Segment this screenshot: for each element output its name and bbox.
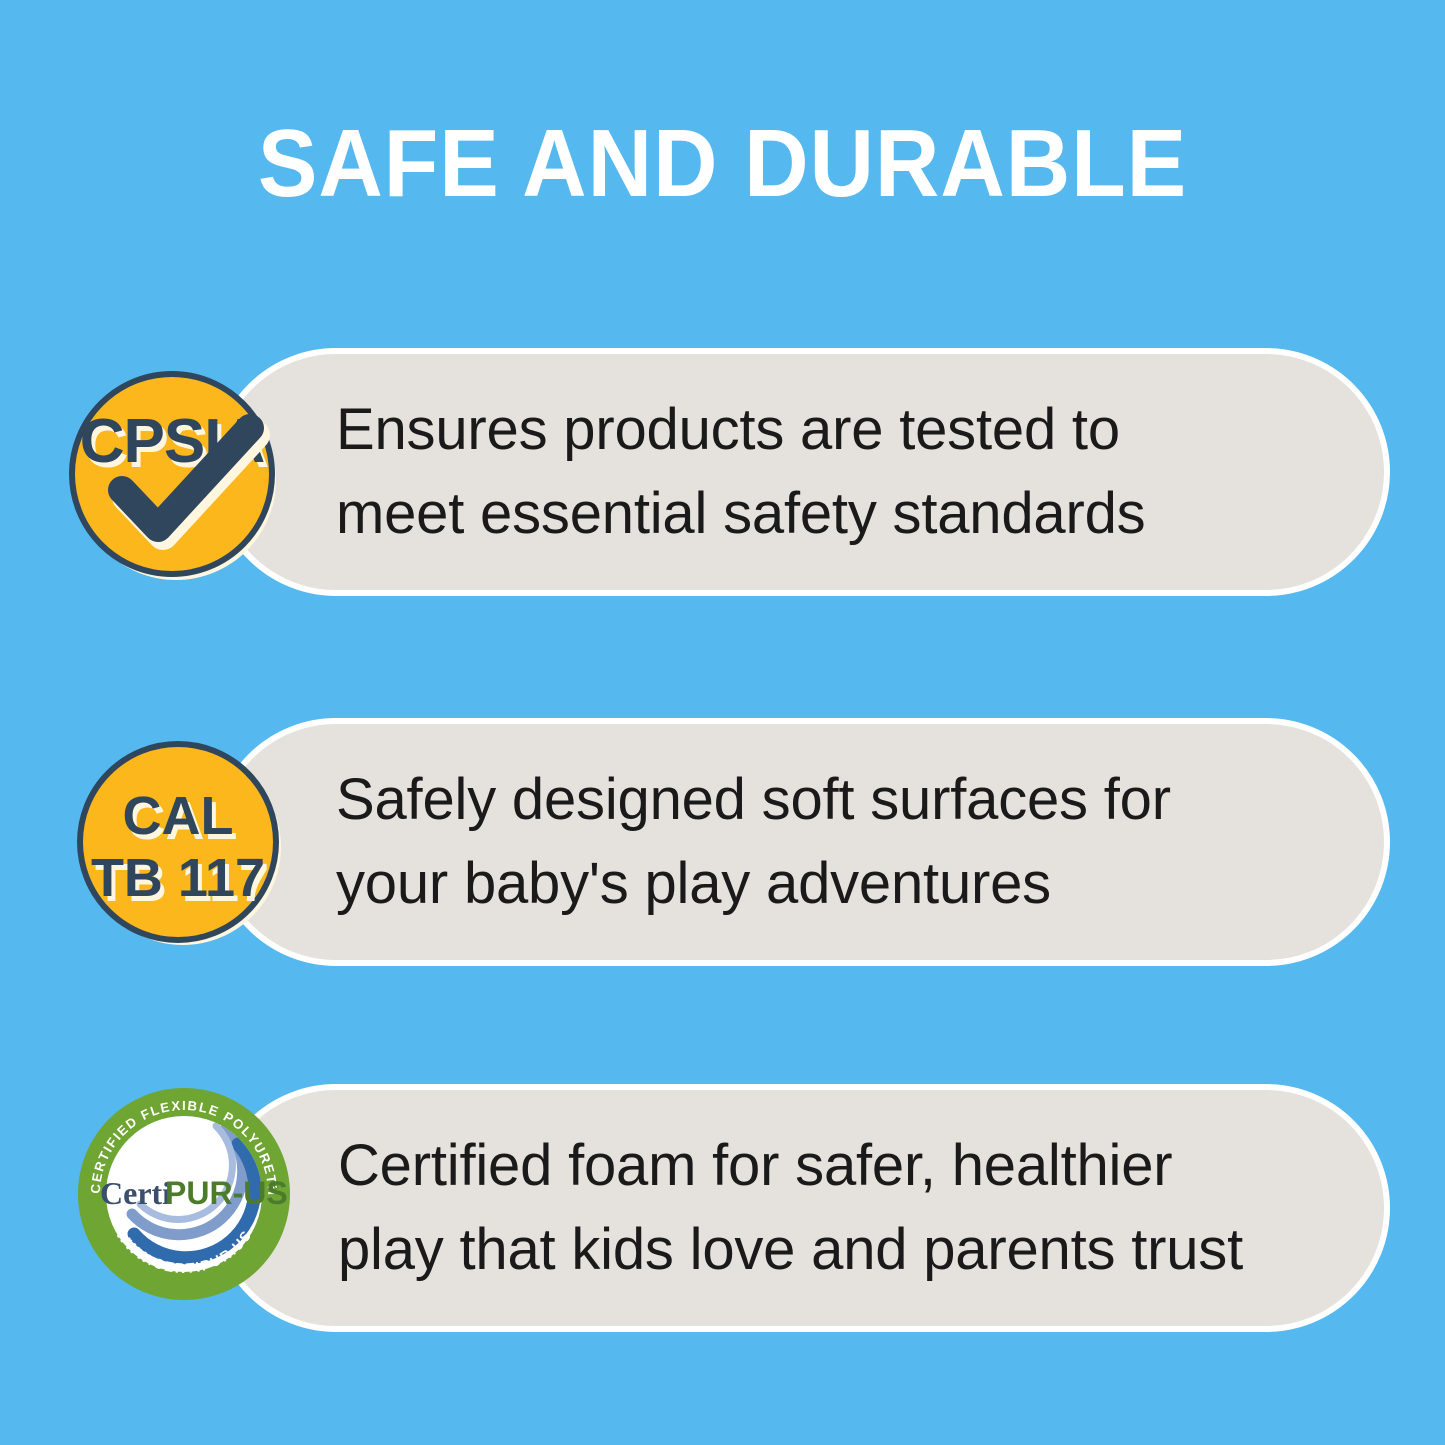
feature-card-certipur-us-line1: Certified foam for safer, healthier <box>338 1133 1172 1198</box>
cal-tb-117-badge-label-top: CAL <box>123 786 234 846</box>
feature-card-cpsia: Ensures products are tested to meet esse… <box>212 348 1390 596</box>
feature-card-certipur-us: Certified foam for safer, healthier play… <box>212 1084 1390 1332</box>
feature-card-cpsia-line1: Ensures products are tested to <box>336 397 1120 462</box>
svg-text:Certi: Certi <box>100 1175 171 1211</box>
feature-card-cal-tb-117-text: Safely designed soft surfaces for your b… <box>336 758 1334 926</box>
feature-card-cpsia-line2: meet essential safety standards <box>336 481 1145 546</box>
svg-text:®: ® <box>269 1178 279 1193</box>
feature-card-cal-tb-117-line2: your baby's play adventures <box>336 851 1051 916</box>
feature-card-cal-tb-117: Safely designed soft surfaces for your b… <box>212 718 1390 966</box>
certipur-us-badge: CONTAINS CERTIFIED FLEXIBLE POLYURETHANE… <box>76 1086 292 1302</box>
feature-card-cpsia-text: Ensures products are tested to meet esse… <box>336 388 1334 556</box>
feature-card-cal-tb-117-line1: Safely designed soft surfaces for <box>336 767 1171 832</box>
cal-tb-117-badge-label-bottom: TB 117 <box>91 848 265 908</box>
promo-graphic: SAFE AND DURABLE Ensures products are te… <box>0 0 1445 1445</box>
cal-tb-117-badge: CAL CAL TB 117 TB 117 <box>74 738 284 948</box>
feature-card-certipur-us-text: Certified foam for safer, healthier play… <box>338 1124 1334 1292</box>
certipur-wordmark: Certi PUR-US ® <box>100 1175 288 1211</box>
feature-card-certipur-us-line2: play that kids love and parents trust <box>338 1217 1243 1282</box>
cpsia-badge: CPSIA CPSIA <box>68 370 280 582</box>
page-title: SAFE AND DURABLE <box>51 112 1395 216</box>
